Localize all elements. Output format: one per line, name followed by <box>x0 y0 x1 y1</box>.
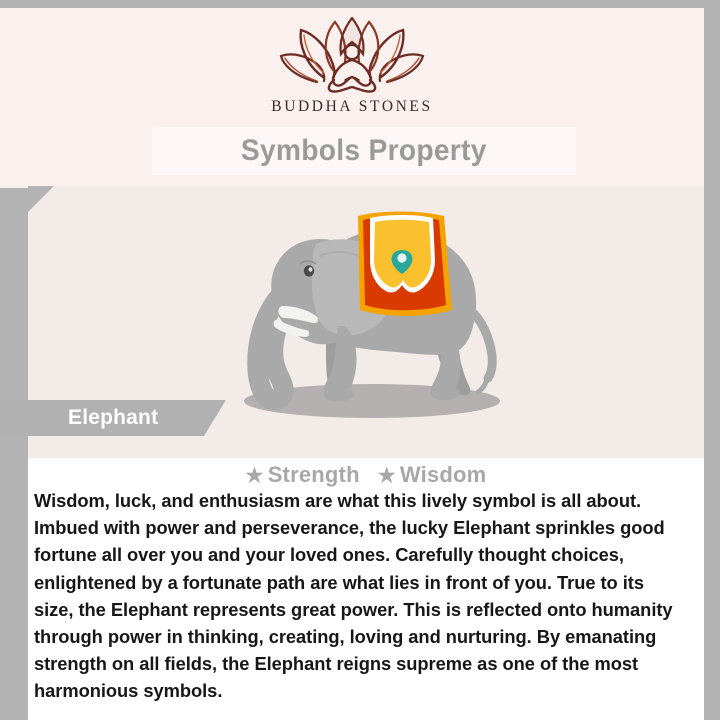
brand-logo: BUDDHA STONES <box>0 14 704 116</box>
brand-name: BUDDHA STONES <box>0 98 704 116</box>
attribute-wisdom: ★Wisdom <box>378 462 487 487</box>
attribute-wisdom-label: Wisdom <box>400 462 487 487</box>
symbol-name-banner: Elephant <box>0 400 226 436</box>
attribute-strength-label: Strength <box>268 462 360 487</box>
elephant-eye <box>304 265 314 276</box>
star-icon: ★ <box>378 465 396 487</box>
symbol-property-card: BUDDHA STONES Symbols Property <box>0 0 720 720</box>
elephant-illustration <box>220 198 510 423</box>
page-title: Symbols Property <box>241 134 487 168</box>
symbol-attributes: ★Strength★Wisdom <box>28 462 704 488</box>
lotus-meditation-icon <box>277 14 427 94</box>
title-banner: Symbols Property <box>152 127 576 175</box>
symbol-name: Elephant <box>68 406 158 430</box>
illustration-panel-corner-notch <box>28 186 54 212</box>
attribute-strength: ★Strength <box>246 462 360 487</box>
star-icon: ★ <box>246 465 264 487</box>
symbol-description: Wisdom, luck, and enthusiasm are what th… <box>34 487 684 705</box>
